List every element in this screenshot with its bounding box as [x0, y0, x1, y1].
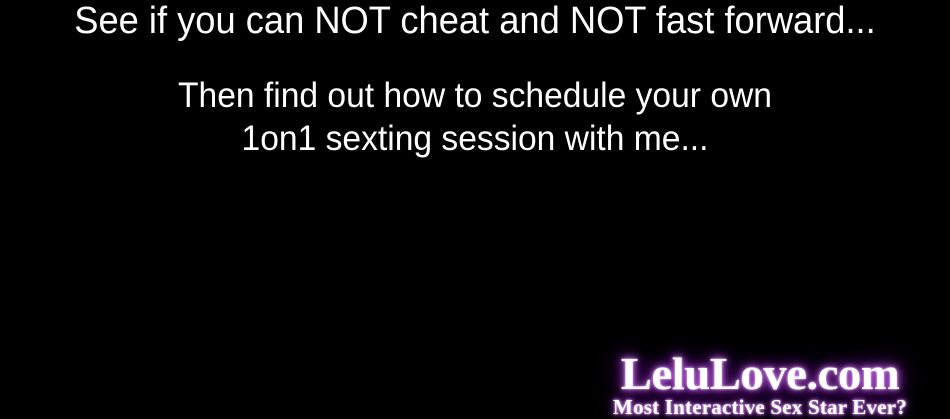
caption-line-middle-first: Then find out how to schedule your own — [19, 78, 931, 113]
site-tagline: Most Interactive Sex Star Ever? — [570, 397, 950, 418]
site-wordmark: LeluLove.com — [562, 352, 950, 396]
caption-line-middle-second: 1on1 sexting session with me... — [19, 121, 931, 156]
site-watermark: LeluLove.com Most Interactive Sex Star E… — [570, 352, 950, 418]
video-frame: See if you can NOT cheat and NOT fast fo… — [0, 0, 950, 419]
caption-line-top: See if you can NOT cheat and NOT fast fo… — [21, 2, 928, 40]
